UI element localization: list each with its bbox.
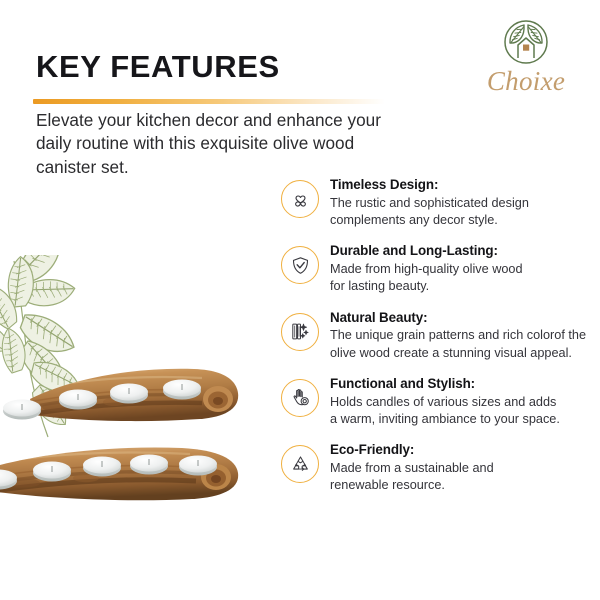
page-title: KEY FEATURES — [36, 50, 280, 84]
title-accent-bar — [33, 99, 385, 104]
feature-item-durable-long-lasting: Durable and Long-Lasting: Made from high… — [281, 242, 593, 295]
tealight-candle — [33, 462, 71, 482]
feature-text: Timeless Design: The rustic and sophisti… — [330, 176, 593, 229]
feature-item-timeless-design: Timeless Design: The rustic and sophisti… — [281, 176, 593, 229]
page-subtitle: Elevate your kitchen decor and enhance y… — [36, 109, 388, 179]
feature-title: Durable and Long-Lasting: — [330, 243, 593, 260]
tealight-candle — [3, 400, 41, 420]
feature-text: Natural Beauty: The unique grain pattern… — [330, 309, 593, 362]
feature-text: Durable and Long-Lasting: Made from high… — [330, 242, 593, 295]
key-features-infographic: Choixe KEY FEATURES Elevate your kitchen… — [0, 0, 600, 600]
tealight-candle — [179, 456, 217, 476]
feature-title: Natural Beauty: — [330, 310, 593, 327]
feature-description: Made from a sustainable and renewable re… — [330, 460, 593, 495]
tealight-candle — [110, 384, 148, 404]
wood-grain-sparkle-icon — [281, 313, 319, 351]
feature-description: Made from high-quality olive wood for la… — [330, 261, 593, 296]
feature-item-eco-friendly: Eco-Friendly: Made from a sustainable an… — [281, 441, 593, 494]
brand-wordmark: Choixe — [470, 67, 582, 95]
tealight-candle — [0, 470, 17, 490]
feature-title: Eco-Friendly: — [330, 442, 593, 459]
recycle-icon — [281, 445, 319, 483]
feature-item-functional-stylish: Functional and Stylish: Holds candles of… — [281, 375, 593, 428]
feature-description: The unique grain patterns and rich color… — [330, 327, 593, 362]
feature-title: Timeless Design: — [330, 177, 593, 194]
olive-leaf-branch-illustration — [0, 255, 128, 440]
feature-description: The rustic and sophisticated design comp… — [330, 195, 593, 230]
tealight-candle — [59, 390, 97, 410]
feature-description: Holds candles of various sizes and adds … — [330, 394, 593, 429]
feature-text: Functional and Stylish: Holds candles of… — [330, 375, 593, 428]
feature-item-natural-beauty: Natural Beauty: The unique grain pattern… — [281, 309, 593, 362]
tealight-candle — [83, 457, 121, 477]
brand-logo: Choixe — [470, 16, 582, 95]
product-image-olive-wood-candle-holders — [0, 355, 286, 550]
tealight-candle — [130, 455, 168, 475]
candle-holder-log-top — [3, 369, 238, 421]
leaf-house-circle-logo-icon — [498, 16, 554, 68]
tealight-candle — [163, 380, 201, 400]
feature-title: Functional and Stylish: — [330, 376, 593, 393]
heart-infinity-icon — [281, 180, 319, 218]
feature-list: Timeless Design: The rustic and sophisti… — [281, 176, 593, 507]
shield-check-icon — [281, 246, 319, 284]
candle-holder-log-bottom — [0, 447, 238, 500]
feature-text: Eco-Friendly: Made from a sustainable an… — [330, 441, 593, 494]
ok-hand-icon — [281, 379, 319, 417]
